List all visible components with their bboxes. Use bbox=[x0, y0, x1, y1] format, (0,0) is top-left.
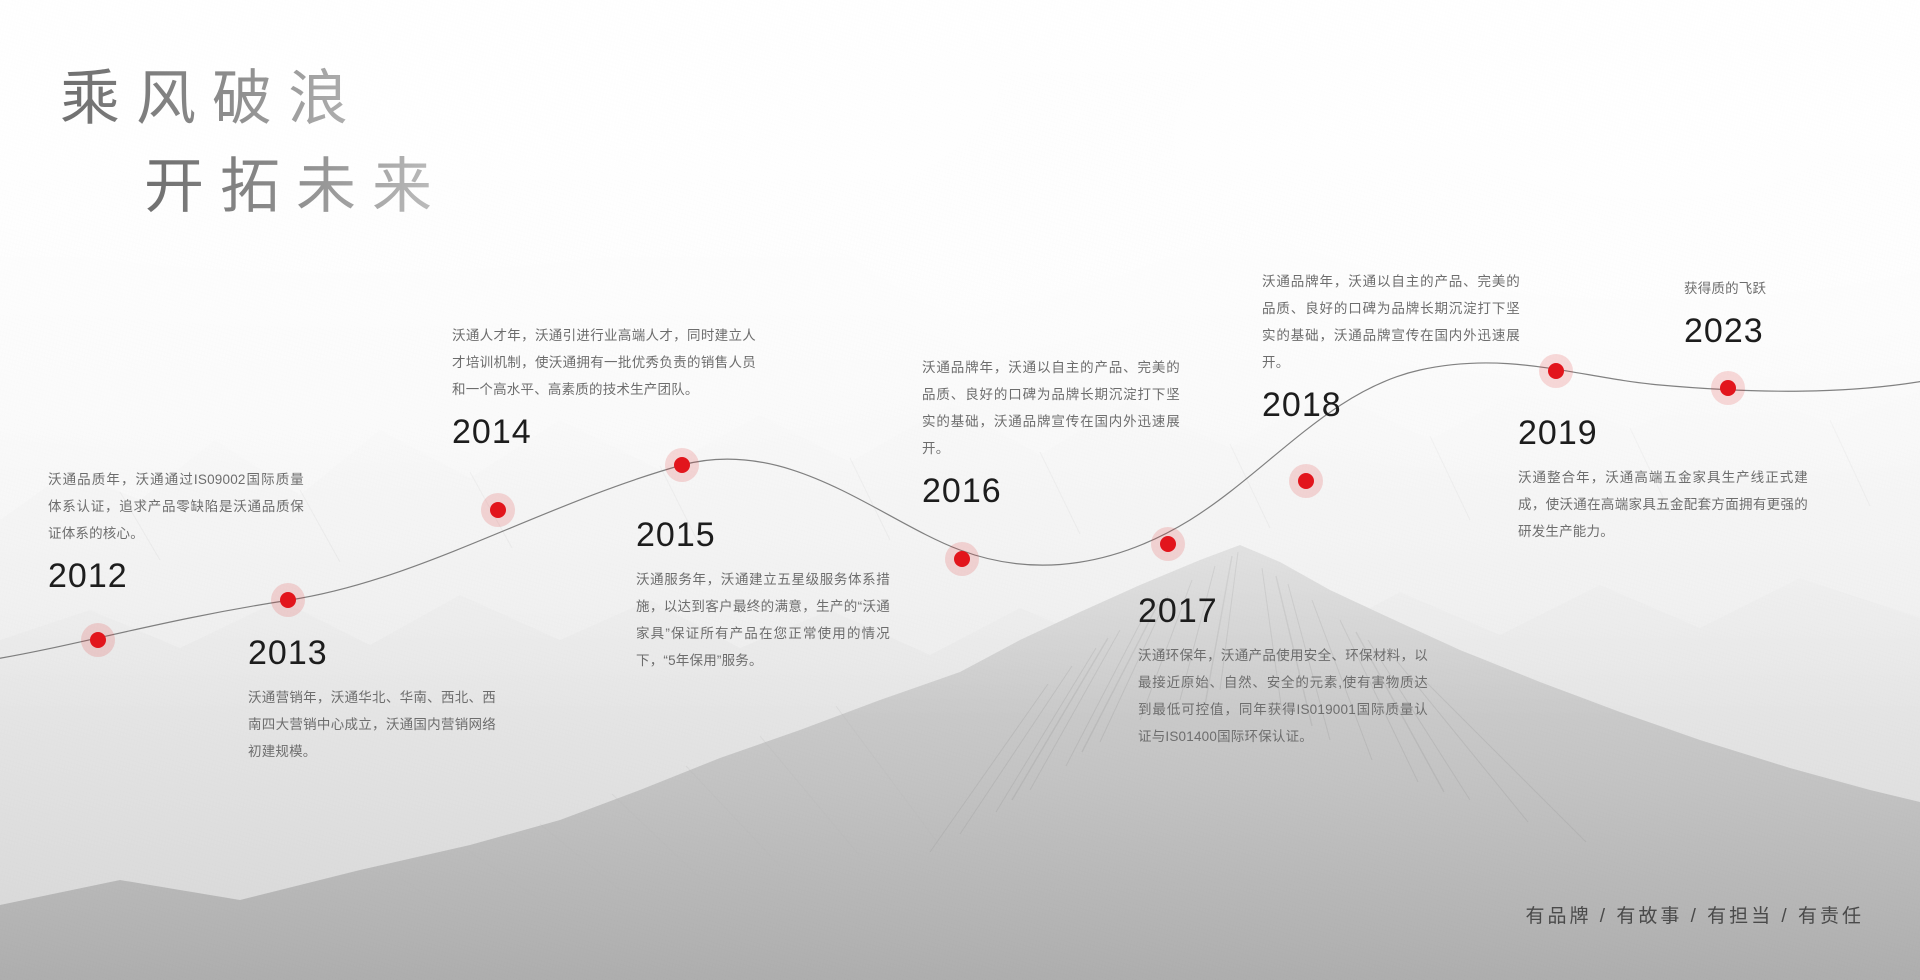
timeline-item-year: 2013 bbox=[248, 636, 496, 670]
page-title-line-1: 乘风破浪 bbox=[60, 62, 680, 136]
timeline-item-description: 沃通品质年，沃通通过IS09002国际质量体系认证，追求产品零缺陷是沃通品质保证… bbox=[48, 466, 304, 547]
timeline-item-year: 2023 bbox=[1684, 314, 1914, 348]
timeline-node-2014[interactable] bbox=[481, 493, 515, 527]
node-dot bbox=[1160, 536, 1176, 552]
node-dot bbox=[1548, 363, 1564, 379]
timeline-item-description: 沃通服务年，沃通建立五星级服务体系措施，以达到客户最终的满意，生产的“沃通家具”… bbox=[636, 566, 890, 674]
timeline-item-year: 2015 bbox=[636, 518, 890, 552]
timeline-item-2013: 2013 沃通营销年，沃通华北、华南、西北、西南四大营销中心成立，沃通国内营销网… bbox=[248, 636, 496, 765]
node-dot bbox=[280, 592, 296, 608]
timeline-item-year: 2017 bbox=[1138, 594, 1428, 628]
timeline-item-year: 2019 bbox=[1518, 416, 1808, 450]
timeline-item-2016: 沃通品牌年，沃通以自主的产品、完美的品质、良好的口碑为品牌长期沉淀打下坚实的基础… bbox=[922, 354, 1180, 508]
timeline-item-2017: 2017 沃通环保年，沃通产品使用安全、环保材料，以最接近原始、自然、安全的元素… bbox=[1138, 594, 1428, 750]
timeline-item-2014: 沃通人才年，沃通引进行业高端人才，同时建立人才培训机制，使沃通拥有一批优秀负责的… bbox=[452, 322, 756, 449]
timeline-item-2015: 2015 沃通服务年，沃通建立五星级服务体系措施，以达到客户最终的满意，生产的“… bbox=[636, 518, 890, 674]
timeline-item-description: 沃通整合年，沃通高端五金家具生产线正式建成，使沃通在高端家具五金配套方面拥有更强… bbox=[1518, 464, 1808, 545]
node-dot bbox=[674, 457, 690, 473]
timeline-item-description: 沃通品牌年，沃通以自主的产品、完美的品质、良好的口碑为品牌长期沉淀打下坚实的基础… bbox=[922, 354, 1180, 462]
node-dot bbox=[954, 551, 970, 567]
timeline-item-description: 沃通品牌年，沃通以自主的产品、完美的品质、良好的口碑为品牌长期沉淀打下坚实的基础… bbox=[1262, 268, 1520, 376]
node-dot bbox=[490, 502, 506, 518]
timeline-node-2017[interactable] bbox=[1151, 527, 1185, 561]
node-dot bbox=[1298, 473, 1314, 489]
timeline-item-description: 沃通人才年，沃通引进行业高端人才，同时建立人才培训机制，使沃通拥有一批优秀负责的… bbox=[452, 322, 756, 403]
slide-canvas: 乘风破浪 开拓未来 沃通品质年，沃通通过IS09002国际质量体系认证，追求产品… bbox=[0, 0, 1920, 980]
timeline-item-description: 沃通营销年，沃通华北、华南、西北、西南四大营销中心成立，沃通国内营销网络初建规模… bbox=[248, 684, 496, 765]
node-dot bbox=[90, 632, 106, 648]
node-dot bbox=[1720, 380, 1736, 396]
timeline-item-description: 沃通环保年，沃通产品使用安全、环保材料，以最接近原始、自然、安全的元素,使有害物… bbox=[1138, 642, 1428, 750]
timeline-node-2012[interactable] bbox=[81, 623, 115, 657]
footer-tagline: 有品牌 / 有故事 / 有担当 / 有责任 bbox=[1525, 901, 1864, 928]
timeline-node-2023[interactable] bbox=[1711, 371, 1745, 405]
page-title-line-2: 开拓未来 bbox=[144, 150, 680, 224]
timeline-node-2015[interactable] bbox=[665, 448, 699, 482]
timeline-node-2019[interactable] bbox=[1539, 354, 1573, 388]
timeline-item-2019: 2019 沃通整合年，沃通高端五金家具生产线正式建成，使沃通在高端家具五金配套方… bbox=[1518, 416, 1808, 545]
timeline-item-year: 2012 bbox=[48, 559, 304, 593]
timeline-item-2023: 获得质的飞跃 2023 bbox=[1684, 275, 1914, 348]
timeline-node-2016[interactable] bbox=[945, 542, 979, 576]
timeline-item-year: 2016 bbox=[922, 474, 1180, 508]
page-title: 乘风破浪 开拓未来 bbox=[60, 62, 680, 225]
timeline-item-year: 2014 bbox=[452, 415, 756, 449]
timeline-item-2012: 沃通品质年，沃通通过IS09002国际质量体系认证，追求产品零缺陷是沃通品质保证… bbox=[48, 466, 304, 593]
timeline-node-2018[interactable] bbox=[1289, 464, 1323, 498]
timeline-item-2018: 沃通品牌年，沃通以自主的产品、完美的品质、良好的口碑为品牌长期沉淀打下坚实的基础… bbox=[1262, 268, 1520, 422]
timeline-item-description: 获得质的飞跃 bbox=[1684, 275, 1914, 302]
timeline-item-year: 2018 bbox=[1262, 388, 1520, 422]
